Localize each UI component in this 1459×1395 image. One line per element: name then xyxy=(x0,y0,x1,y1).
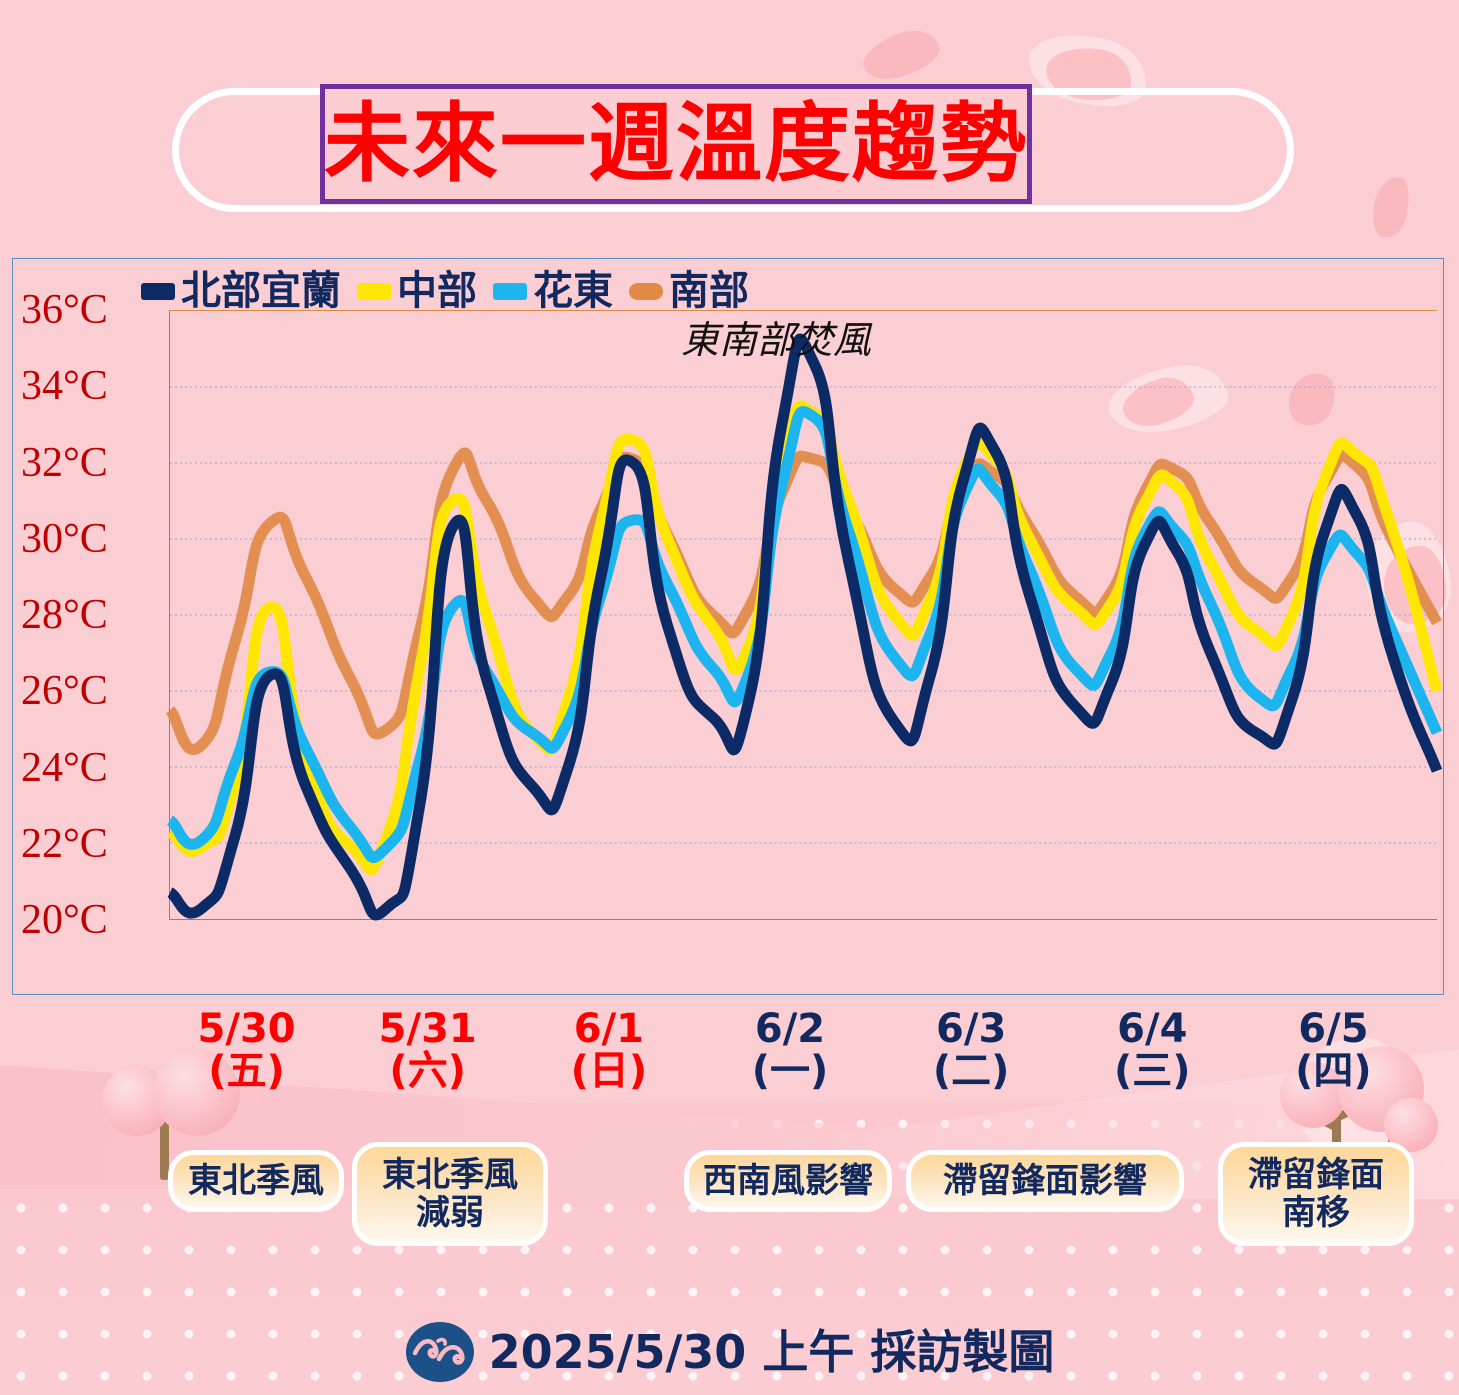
day-weekday: (日) xyxy=(519,1050,699,1092)
y-axis-tick-label: 24°C xyxy=(21,747,155,789)
weather-event-badges: 東北季風東北季風減弱西南風影響滯留鋒面影響滯留鋒面南移 xyxy=(0,1140,1459,1260)
legend-label: 花東 xyxy=(533,271,613,311)
day-date: 5/31 xyxy=(338,1008,518,1050)
weather-badge-2[interactable]: 西南風影響 xyxy=(684,1150,892,1212)
series-line-中部 xyxy=(170,406,1437,870)
day-weekday: (三) xyxy=(1062,1050,1242,1092)
y-axis-tick-label: 26°C xyxy=(21,670,155,712)
legend-item-3[interactable]: 南部 xyxy=(629,271,749,311)
legend-label: 中部 xyxy=(397,271,477,311)
y-axis-tick-label: 34°C xyxy=(21,365,155,407)
petal-decoration xyxy=(1368,173,1414,241)
cwa-wave-logo-icon xyxy=(405,1321,475,1383)
x-axis-label-6-4: 6/4(三) xyxy=(1062,1008,1242,1092)
day-weekday: (六) xyxy=(338,1050,518,1092)
badge-line: 滯留鋒面 xyxy=(1248,1156,1384,1194)
badge-line: 西南風影響 xyxy=(703,1162,873,1200)
chart-legend: 北部宜蘭中部花東南部 xyxy=(141,271,749,311)
temperature-lines-svg xyxy=(170,311,1437,919)
plot-area xyxy=(169,310,1437,920)
x-axis-day-labels: 5/30(五)5/31(六)6/1(日)6/2(一)6/3(二)6/4(三)6/… xyxy=(156,1008,1424,1108)
x-axis-label-6-2: 6/2(一) xyxy=(700,1008,880,1092)
badge-line: 東北季風 xyxy=(188,1162,324,1200)
badge-line: 減弱 xyxy=(416,1194,484,1232)
page-title-banner: 未來一週溫度趨勢 xyxy=(172,88,1294,212)
weather-badge-4[interactable]: 滯留鋒面南移 xyxy=(1218,1142,1414,1246)
legend-item-2[interactable]: 花東 xyxy=(493,271,613,311)
legend-swatch-icon xyxy=(629,283,663,300)
weather-badge-3[interactable]: 滯留鋒面影響 xyxy=(906,1150,1184,1212)
y-axis-tick-label: 22°C xyxy=(21,823,155,865)
day-weekday: (四) xyxy=(1243,1050,1423,1092)
legend-label: 南部 xyxy=(669,271,749,311)
y-axis-tick-label: 32°C xyxy=(21,442,155,484)
legend-swatch-icon xyxy=(357,283,391,300)
x-axis-label-6-5: 6/5(四) xyxy=(1243,1008,1423,1092)
day-date: 6/1 xyxy=(519,1008,699,1050)
day-date: 6/2 xyxy=(700,1008,880,1050)
legend-swatch-icon xyxy=(493,283,527,300)
legend-swatch-icon xyxy=(141,283,175,300)
series-line-花東 xyxy=(170,412,1437,858)
x-axis-label-6-1: 6/1(日) xyxy=(519,1008,699,1092)
day-weekday: (一) xyxy=(700,1050,880,1092)
legend-label: 北部宜蘭 xyxy=(181,271,341,311)
foehn-annotation: 東南部焚風 xyxy=(681,309,871,364)
legend-item-1[interactable]: 中部 xyxy=(357,271,477,311)
day-date: 6/4 xyxy=(1062,1008,1242,1050)
y-axis-tick-label: 36°C xyxy=(21,289,155,331)
title-box: 未來一週溫度趨勢 xyxy=(320,84,1032,204)
petal-decoration xyxy=(857,23,944,87)
day-date: 5/30 xyxy=(157,1008,337,1050)
x-axis-label-5-30: 5/30(五) xyxy=(157,1008,337,1092)
series-line-南部 xyxy=(170,453,1437,750)
page-title: 未來一週溫度趨勢 xyxy=(324,101,1028,187)
x-axis-label-5-31: 5/31(六) xyxy=(338,1008,518,1092)
footer-text: 2025/5/30 上午 採訪製圖 xyxy=(489,1329,1055,1375)
badge-line: 南移 xyxy=(1282,1194,1350,1232)
day-date: 6/3 xyxy=(881,1008,1061,1050)
badge-line: 東北季風 xyxy=(382,1156,518,1194)
badge-line: 滯留鋒面影響 xyxy=(943,1162,1147,1200)
y-axis-tick-label: 28°C xyxy=(21,594,155,636)
day-weekday: (五) xyxy=(157,1050,337,1092)
weather-badge-1[interactable]: 東北季風減弱 xyxy=(352,1142,548,1246)
footer: 2025/5/30 上午 採訪製圖 xyxy=(0,1316,1459,1388)
y-axis-tick-label: 30°C xyxy=(21,518,155,560)
day-weekday: (二) xyxy=(881,1050,1061,1092)
temperature-chart-card: 北部宜蘭中部花東南部 36°C34°C32°C30°C28°C26°C24°C2… xyxy=(12,258,1444,995)
legend-item-0[interactable]: 北部宜蘭 xyxy=(141,271,341,311)
x-axis-label-6-3: 6/3(二) xyxy=(881,1008,1061,1092)
y-axis-tick-label: 20°C xyxy=(21,899,155,941)
day-date: 6/5 xyxy=(1243,1008,1423,1050)
weather-badge-0[interactable]: 東北季風 xyxy=(168,1150,344,1212)
